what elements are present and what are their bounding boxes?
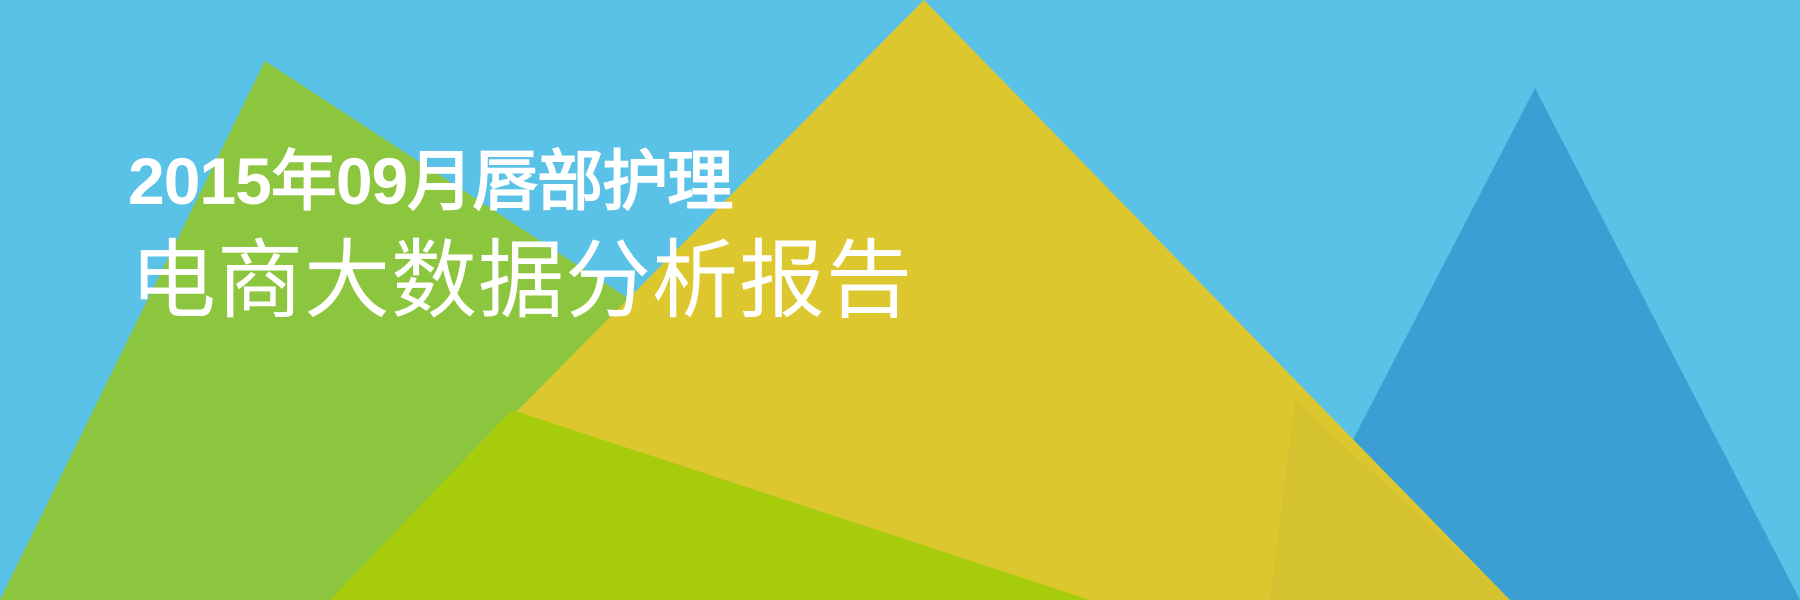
report-cover-banner: 2015年09月唇部护理 电商大数据分析报告: [0, 0, 1800, 600]
banner-background: [0, 0, 1800, 600]
decorative-mountains-graphic: [0, 0, 1800, 600]
